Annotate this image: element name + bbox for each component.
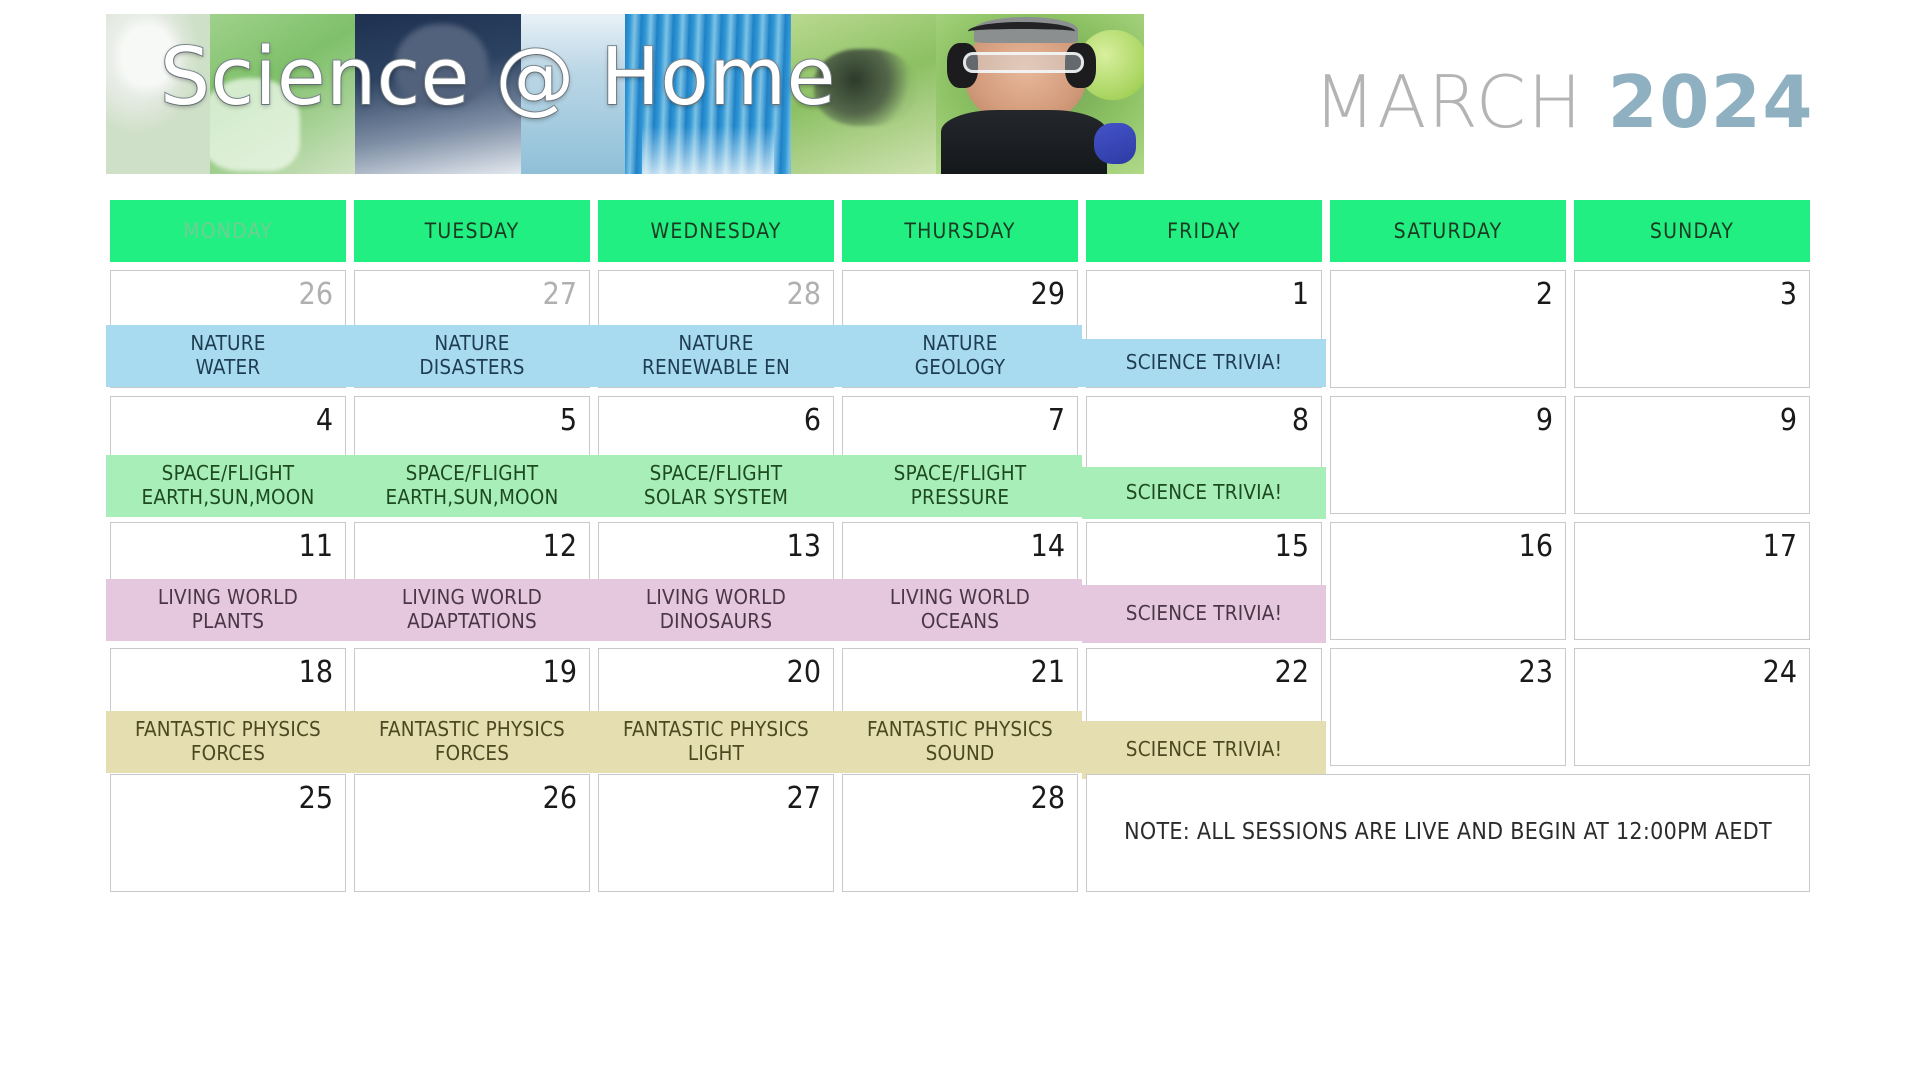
event-line-2: RENEWABLE EN	[594, 356, 838, 379]
note-cell-wrapper: NOTE: ALL SESSIONS ARE LIVE AND BEGIN AT…	[1082, 770, 1814, 896]
calendar-weeks: 26NATUREWATER27NATUREDISASTERS28NATURERE…	[106, 266, 1814, 896]
event-line-2: SOLAR SYSTEM	[594, 486, 838, 509]
event-line-1: NATURE	[594, 332, 838, 355]
day-number: 29	[1031, 277, 1065, 312]
day-cell-9[interactable]: 9	[1330, 396, 1566, 514]
event-line-2: GEOLOGY	[838, 356, 1082, 379]
day-header-label: TUESDAY	[425, 219, 520, 243]
day-cell-wrapper: 27NATUREDISASTERS	[350, 266, 594, 392]
calendar-week-row: 11LIVING WORLDPLANTS12LIVING WORLDADAPTA…	[106, 518, 1814, 644]
day-number: 4	[316, 403, 333, 438]
calendar-week-row: 25262728NOTE: ALL SESSIONS ARE LIVE AND …	[106, 770, 1814, 896]
safety-goggles-icon	[963, 52, 1083, 73]
day-number: 27	[787, 781, 821, 816]
day-number: 7	[1048, 403, 1065, 438]
day-header-saturday: SATURDAY	[1330, 200, 1566, 262]
day-cell-13[interactable]: 13LIVING WORLDDINOSAURS	[598, 522, 834, 640]
day-number: 6	[804, 403, 821, 438]
event-line-1: NATURE	[106, 332, 350, 355]
day-cell-wrapper: 18FANTASTIC PHYSICSFORCES	[106, 644, 350, 770]
science-trivia-event[interactable]: SCIENCE TRIVIA!	[1082, 339, 1326, 387]
day-header-cell: THURSDAY	[838, 196, 1082, 266]
day-cell-17[interactable]: 17	[1574, 522, 1810, 640]
day-cell-wrapper: 20FANTASTIC PHYSICSLIGHT	[594, 644, 838, 770]
day-cell-8[interactable]: 8SCIENCE TRIVIA!	[1086, 396, 1322, 514]
event-line-2: PLANTS	[106, 610, 350, 633]
session-event-band[interactable]: FANTASTIC PHYSICSLIGHT	[594, 711, 838, 773]
science-trivia-event[interactable]: SCIENCE TRIVIA!	[1082, 467, 1326, 519]
day-cell-27[interactable]: 27	[598, 774, 834, 892]
calendar-week-row: 26NATUREWATER27NATUREDISASTERS28NATURERE…	[106, 266, 1814, 392]
day-header-monday: MONDAY	[110, 200, 346, 262]
day-number: 17	[1763, 529, 1797, 564]
day-cell-16[interactable]: 16	[1330, 522, 1566, 640]
day-number: 9	[1536, 403, 1553, 438]
month-year-title: MARCH 2024	[1313, 66, 1814, 139]
day-header-cell: WEDNESDAY	[594, 196, 838, 266]
day-number: 19	[543, 655, 577, 690]
day-cell-29[interactable]: 29NATUREGEOLOGY	[842, 270, 1078, 388]
day-cell-wrapper: 26NATUREWATER	[106, 266, 350, 392]
session-event-band[interactable]: FANTASTIC PHYSICSSOUND	[838, 711, 1082, 773]
day-cell-wrapper: 11LIVING WORLDPLANTS	[106, 518, 350, 644]
day-cell-wrapper: 29NATUREGEOLOGY	[838, 266, 1082, 392]
day-cell-wrapper: 16	[1326, 518, 1570, 644]
event-line-1: SPACE/FLIGHT	[106, 462, 350, 485]
session-event-band[interactable]: LIVING WORLDOCEANS	[838, 579, 1082, 641]
day-number: 12	[543, 529, 577, 564]
day-cell-wrapper: 28NATURERENEWABLE EN	[594, 266, 838, 392]
day-cell-wrapper: 5SPACE/FLIGHTEARTH,SUN,MOON	[350, 392, 594, 518]
session-event-band[interactable]: NATURERENEWABLE EN	[594, 325, 838, 387]
day-number: 28	[787, 277, 821, 312]
day-header-thursday: THURSDAY	[842, 200, 1078, 262]
day-cell-wrapper: 1SCIENCE TRIVIA!	[1082, 266, 1326, 392]
day-number: 20	[787, 655, 821, 690]
event-line-2: EARTH,SUN,MOON	[106, 486, 350, 509]
day-cell-25[interactable]: 25	[110, 774, 346, 892]
event-line-1: SPACE/FLIGHT	[594, 462, 838, 485]
day-header-friday: FRIDAY	[1086, 200, 1322, 262]
presenter-torso	[941, 110, 1107, 174]
session-event-band[interactable]: FANTASTIC PHYSICSFORCES	[350, 711, 594, 773]
day-number: 8	[1292, 403, 1309, 438]
day-number: 14	[1031, 529, 1065, 564]
day-number: 28	[1031, 781, 1065, 816]
day-cell-23[interactable]: 23	[1330, 648, 1566, 766]
month-label: MARCH	[1313, 60, 1583, 144]
day-cell-wrapper: 17	[1570, 518, 1814, 644]
day-number: 23	[1519, 655, 1553, 690]
day-cell-2[interactable]: 2	[1330, 270, 1566, 388]
session-event-band[interactable]: LIVING WORLDDINOSAURS	[594, 579, 838, 641]
event-line-1: NATURE	[350, 332, 594, 355]
day-number: 11	[299, 529, 333, 564]
day-cell-wrapper: 9	[1326, 392, 1570, 518]
event-line-1: SPACE/FLIGHT	[350, 462, 594, 485]
session-note-cell: NOTE: ALL SESSIONS ARE LIVE AND BEGIN AT…	[1086, 774, 1810, 892]
day-number: 9	[1780, 403, 1797, 438]
day-number: 2	[1536, 277, 1553, 312]
day-cell-wrapper: 6SPACE/FLIGHTSOLAR SYSTEM	[594, 392, 838, 518]
calendar-page: Science @ Home MARCH 2024 MONDAYTUESDAYW…	[0, 0, 1920, 1080]
headphone-band-icon	[968, 22, 1076, 41]
session-event-band[interactable]: SPACE/FLIGHTPRESSURE	[838, 455, 1082, 517]
event-line-2: DISASTERS	[350, 356, 594, 379]
calendar-grid: MONDAYTUESDAYWEDNESDAYTHURSDAYFRIDAYSATU…	[106, 196, 1814, 896]
day-of-week-header-row: MONDAYTUESDAYWEDNESDAYTHURSDAYFRIDAYSATU…	[106, 196, 1814, 266]
day-number: 25	[299, 781, 333, 816]
event-line-1: NATURE	[838, 332, 1082, 355]
day-cell-wrapper: 2	[1326, 266, 1570, 392]
day-header-wednesday: WEDNESDAY	[598, 200, 834, 262]
event-line-1: SPACE/FLIGHT	[838, 462, 1082, 485]
day-cell-wrapper: 28	[838, 770, 1082, 896]
day-cell-wrapper: 7SPACE/FLIGHTPRESSURE	[838, 392, 1082, 518]
day-number: 1	[1292, 277, 1309, 312]
day-cell-19[interactable]: 19FANTASTIC PHYSICSFORCES	[354, 648, 590, 766]
event-line-1: SCIENCE TRIVIA!	[1082, 738, 1326, 761]
day-header-label: FRIDAY	[1167, 219, 1241, 243]
day-cell-15[interactable]: 15SCIENCE TRIVIA!	[1086, 522, 1322, 640]
day-number: 22	[1275, 655, 1309, 690]
day-cell-wrapper: 3	[1570, 266, 1814, 392]
event-line-2: FORCES	[106, 742, 350, 765]
event-line-1: SCIENCE TRIVIA!	[1082, 602, 1326, 625]
day-cell-wrapper: 24	[1570, 644, 1814, 770]
day-header-label: WEDNESDAY	[650, 219, 781, 243]
day-cell-3[interactable]: 3	[1574, 270, 1810, 388]
calendar-week-row: 4SPACE/FLIGHTEARTH,SUN,MOON5SPACE/FLIGHT…	[106, 392, 1814, 518]
session-event-band[interactable]: LIVING WORLDPLANTS	[106, 579, 350, 641]
session-event-band[interactable]: NATUREDISASTERS	[350, 325, 594, 387]
day-cell-26[interactable]: 26NATUREWATER	[110, 270, 346, 388]
day-cell-wrapper: 25	[106, 770, 350, 896]
session-note-text: NOTE: ALL SESSIONS ARE LIVE AND BEGIN AT…	[1124, 816, 1772, 849]
event-line-2: EARTH,SUN,MOON	[350, 486, 594, 509]
day-cell-wrapper: 8SCIENCE TRIVIA!	[1082, 392, 1326, 518]
event-line-1: FANTASTIC PHYSICS	[838, 718, 1082, 741]
day-cell-wrapper: 4SPACE/FLIGHTEARTH,SUN,MOON	[106, 392, 350, 518]
day-cell-26[interactable]: 26	[354, 774, 590, 892]
event-line-1: LIVING WORLD	[106, 586, 350, 609]
day-cell-9[interactable]: 9	[1574, 396, 1810, 514]
event-line-2: FORCES	[350, 742, 594, 765]
year-label: 2024	[1608, 60, 1814, 144]
day-cell-wrapper: 19FANTASTIC PHYSICSFORCES	[350, 644, 594, 770]
day-cell-11[interactable]: 11LIVING WORLDPLANTS	[110, 522, 346, 640]
day-number: 13	[787, 529, 821, 564]
day-cell-12[interactable]: 12LIVING WORLDADAPTATIONS	[354, 522, 590, 640]
day-number: 15	[1275, 529, 1309, 564]
day-cell-6[interactable]: 6SPACE/FLIGHTSOLAR SYSTEM	[598, 396, 834, 514]
day-cell-18[interactable]: 18FANTASTIC PHYSICSFORCES	[110, 648, 346, 766]
page-header: Science @ Home MARCH 2024	[106, 14, 1814, 186]
day-number: 26	[543, 781, 577, 816]
day-cell-wrapper: 27	[594, 770, 838, 896]
event-line-2: SOUND	[838, 742, 1082, 765]
day-number: 26	[299, 277, 333, 312]
day-cell-22[interactable]: 22SCIENCE TRIVIA!	[1086, 648, 1322, 766]
banner-title: Science @ Home	[160, 36, 836, 119]
day-header-label: THURSDAY	[904, 219, 1015, 243]
day-number: 27	[543, 277, 577, 312]
event-line-2: OCEANS	[838, 610, 1082, 633]
day-number: 5	[560, 403, 577, 438]
day-cell-wrapper: 23	[1326, 644, 1570, 770]
event-line-2: WATER	[106, 356, 350, 379]
science-trivia-event[interactable]: SCIENCE TRIVIA!	[1082, 585, 1326, 643]
day-header-cell: FRIDAY	[1082, 196, 1326, 266]
event-line-2: ADAPTATIONS	[350, 610, 594, 633]
day-header-sunday: SUNDAY	[1574, 200, 1810, 262]
day-header-label: MONDAY	[183, 219, 273, 243]
session-event-band[interactable]: SPACE/FLIGHTEARTH,SUN,MOON	[350, 455, 594, 517]
day-number: 21	[1031, 655, 1065, 690]
day-header-label: SATURDAY	[1394, 219, 1503, 243]
session-event-band[interactable]: NATUREGEOLOGY	[838, 325, 1082, 387]
day-cell-wrapper: 21FANTASTIC PHYSICSSOUND	[838, 644, 1082, 770]
day-header-cell: MONDAY	[106, 196, 350, 266]
event-line-1: LIVING WORLD	[838, 586, 1082, 609]
day-cell-5[interactable]: 5SPACE/FLIGHTEARTH,SUN,MOON	[354, 396, 590, 514]
day-cell-wrapper: 22SCIENCE TRIVIA!	[1082, 644, 1326, 770]
session-event-band[interactable]: NATUREWATER	[106, 325, 350, 387]
blue-glove-icon	[1094, 123, 1136, 165]
session-event-band[interactable]: LIVING WORLDADAPTATIONS	[350, 579, 594, 641]
day-cell-wrapper: 26	[350, 770, 594, 896]
event-line-2: PRESSURE	[838, 486, 1082, 509]
session-event-band[interactable]: SPACE/FLIGHTEARTH,SUN,MOON	[106, 455, 350, 517]
day-cell-24[interactable]: 24	[1574, 648, 1810, 766]
day-cell-wrapper: 12LIVING WORLDADAPTATIONS	[350, 518, 594, 644]
session-event-band[interactable]: SPACE/FLIGHTSOLAR SYSTEM	[594, 455, 838, 517]
event-line-1: LIVING WORLD	[350, 586, 594, 609]
day-cell-wrapper: 14LIVING WORLDOCEANS	[838, 518, 1082, 644]
day-number: 16	[1519, 529, 1553, 564]
day-cell-wrapper: 9	[1570, 392, 1814, 518]
science-at-home-banner: Science @ Home	[106, 14, 1144, 174]
day-header-cell: TUESDAY	[350, 196, 594, 266]
day-cell-wrapper: 13LIVING WORLDDINOSAURS	[594, 518, 838, 644]
day-cell-14[interactable]: 14LIVING WORLDOCEANS	[842, 522, 1078, 640]
event-line-2: DINOSAURS	[594, 610, 838, 633]
day-number: 3	[1780, 277, 1797, 312]
day-cell-28[interactable]: 28	[842, 774, 1078, 892]
session-event-band[interactable]: FANTASTIC PHYSICSFORCES	[106, 711, 350, 773]
day-cell-21[interactable]: 21FANTASTIC PHYSICSSOUND	[842, 648, 1078, 766]
day-header-cell: SUNDAY	[1570, 196, 1814, 266]
day-header-label: SUNDAY	[1650, 219, 1734, 243]
day-cell-20[interactable]: 20FANTASTIC PHYSICSLIGHT	[598, 648, 834, 766]
event-line-1: SCIENCE TRIVIA!	[1082, 351, 1326, 374]
day-cell-wrapper: 15SCIENCE TRIVIA!	[1082, 518, 1326, 644]
presenter-balloon-photo	[936, 14, 1144, 174]
day-cell-1[interactable]: 1SCIENCE TRIVIA!	[1086, 270, 1322, 388]
calendar-week-row: 18FANTASTIC PHYSICSFORCES19FANTASTIC PHY…	[106, 644, 1814, 770]
day-cell-7[interactable]: 7SPACE/FLIGHTPRESSURE	[842, 396, 1078, 514]
science-trivia-event[interactable]: SCIENCE TRIVIA!	[1082, 721, 1326, 779]
event-line-1: FANTASTIC PHYSICS	[350, 718, 594, 741]
day-number: 24	[1763, 655, 1797, 690]
event-line-2: LIGHT	[594, 742, 838, 765]
day-header-cell: SATURDAY	[1326, 196, 1570, 266]
day-header-tuesday: TUESDAY	[354, 200, 590, 262]
day-cell-4[interactable]: 4SPACE/FLIGHTEARTH,SUN,MOON	[110, 396, 346, 514]
event-line-1: FANTASTIC PHYSICS	[594, 718, 838, 741]
event-line-1: SCIENCE TRIVIA!	[1082, 481, 1326, 504]
event-line-1: LIVING WORLD	[594, 586, 838, 609]
event-line-1: FANTASTIC PHYSICS	[106, 718, 350, 741]
day-cell-27[interactable]: 27NATUREDISASTERS	[354, 270, 590, 388]
day-number: 18	[299, 655, 333, 690]
day-cell-28[interactable]: 28NATURERENEWABLE EN	[598, 270, 834, 388]
